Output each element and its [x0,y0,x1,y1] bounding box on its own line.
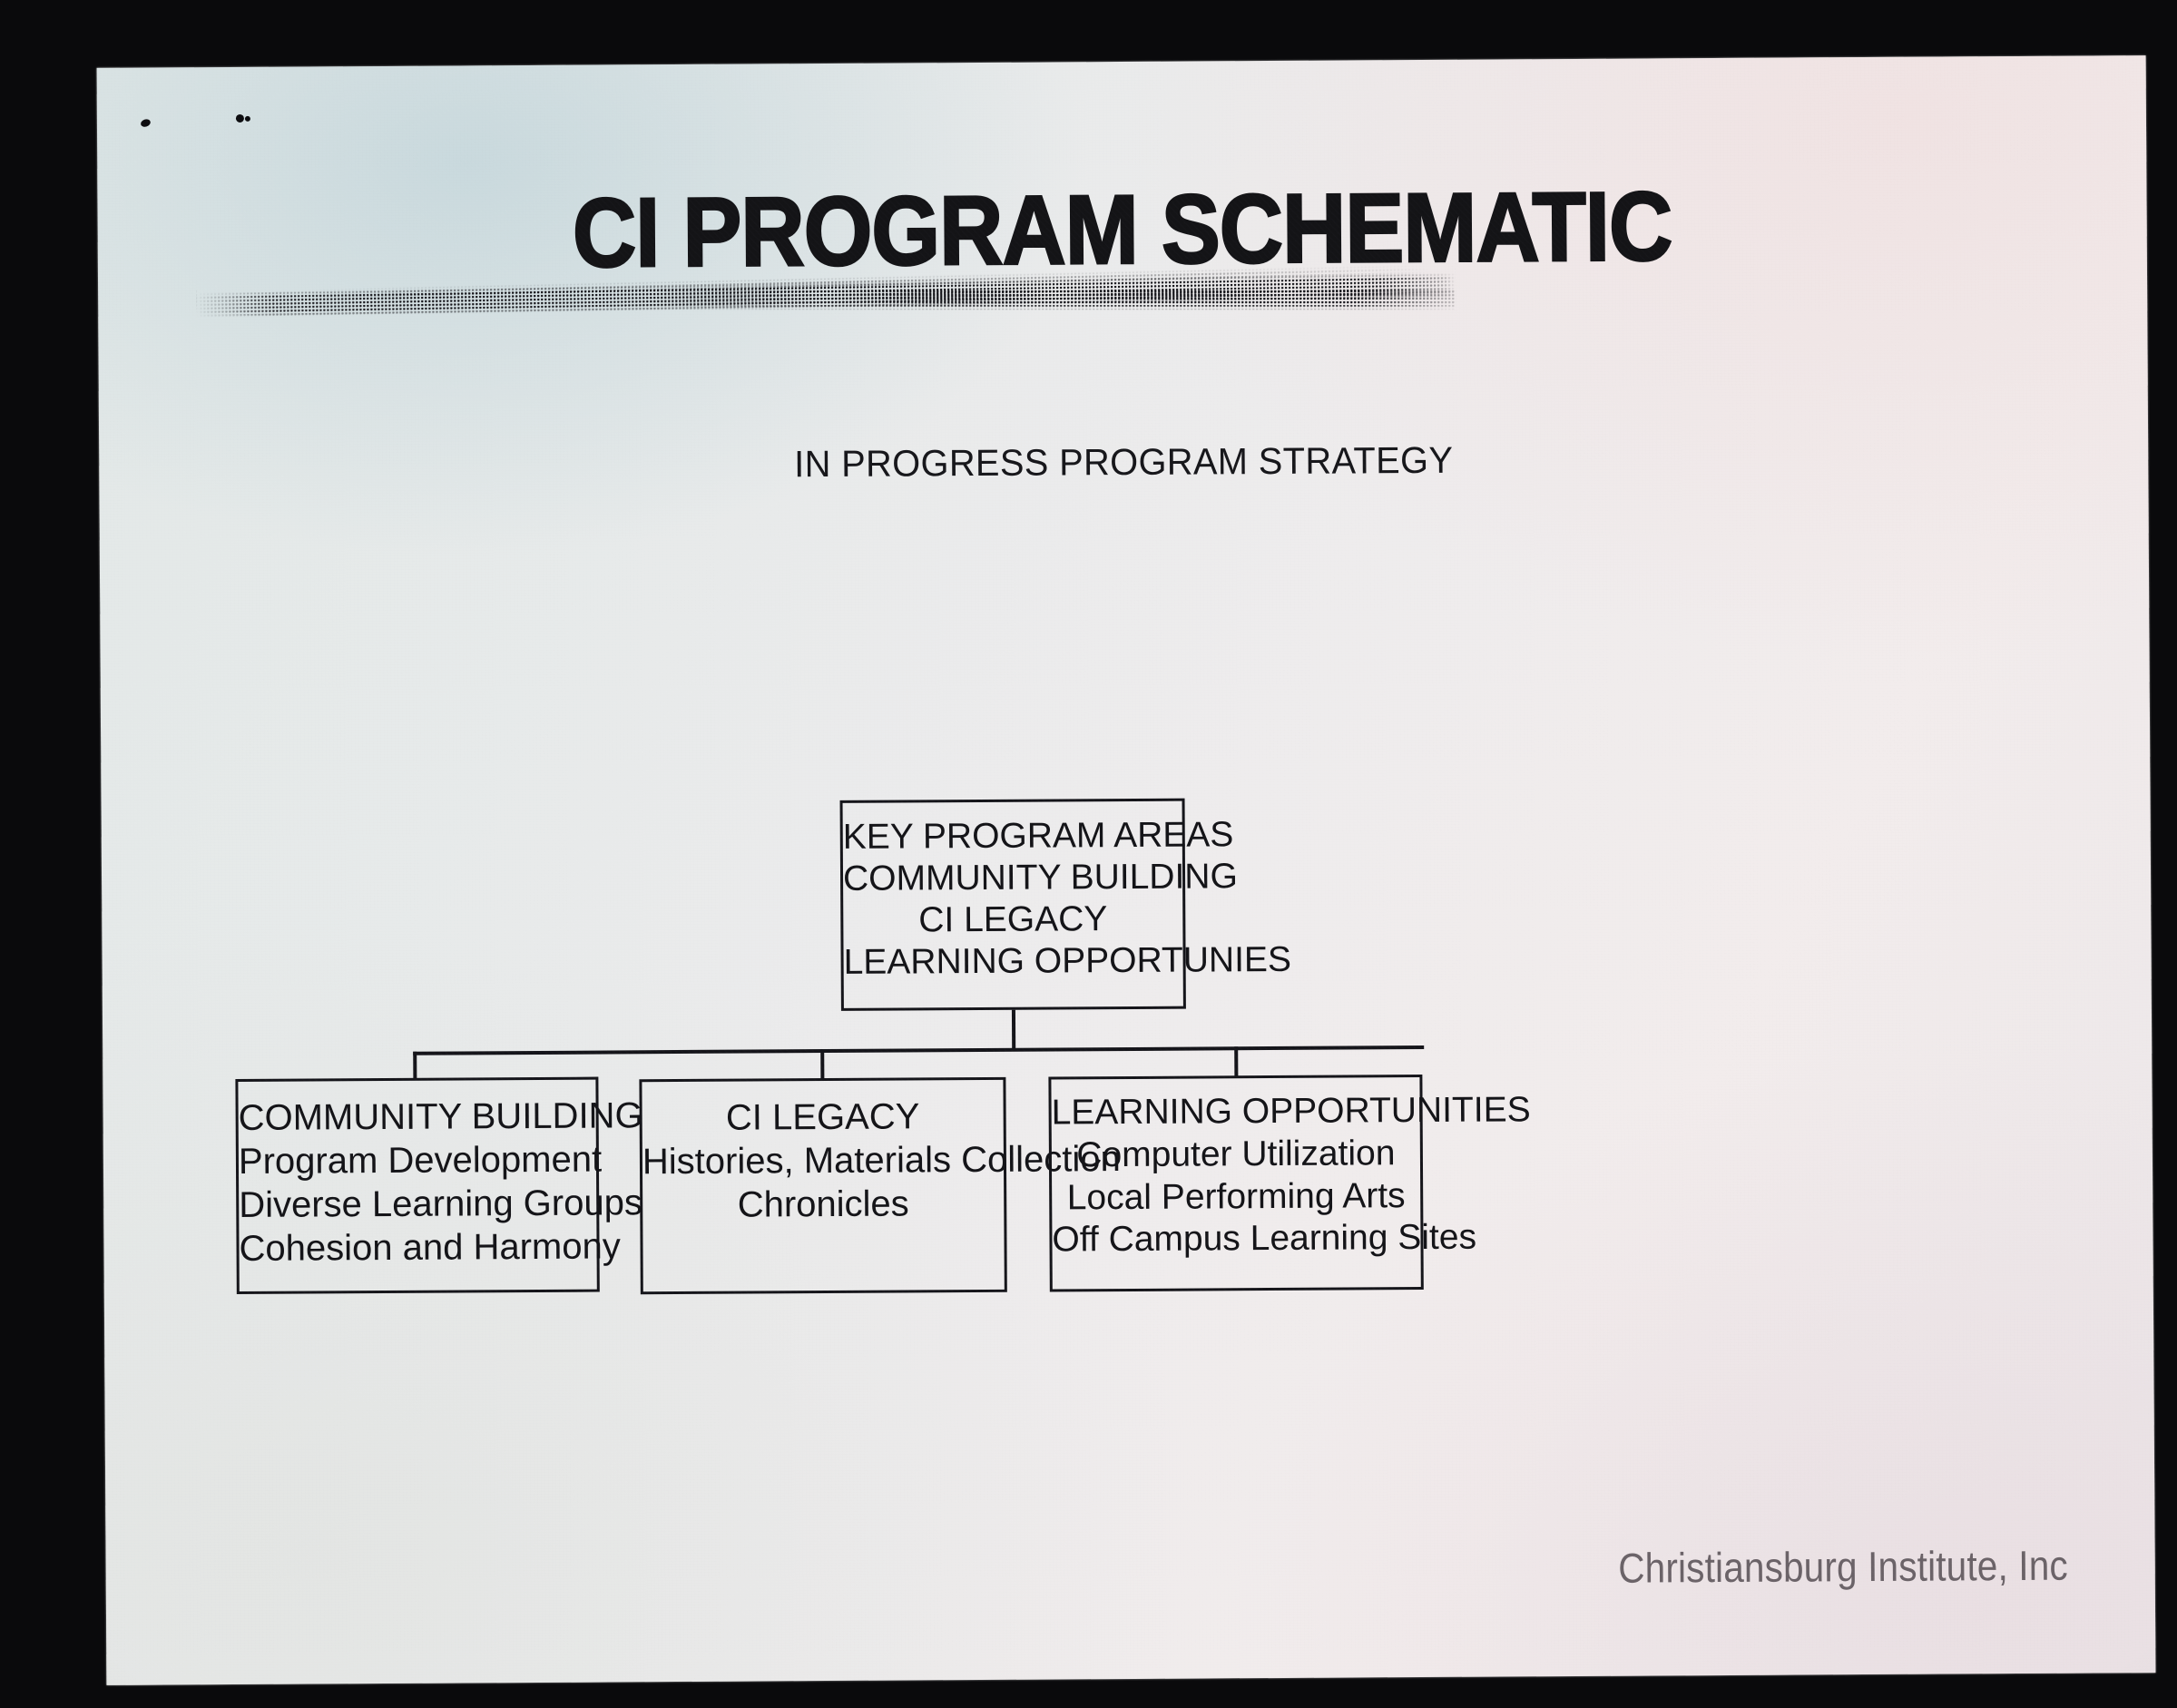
node-key-program-areas: KEY PROGRAM AREAS COMMUNITY BUILDING CI … [840,799,1186,1011]
connector-drop-ci-legacy [820,1049,824,1080]
node-lo-header: LEARNING OPPORTUNITIES [1051,1090,1419,1134]
node-root-line-1: KEY PROGRAM AREAS [843,815,1182,859]
node-cl-item-2: Chronicles [642,1182,1004,1227]
screenshot-canvas: CI PROGRAM SCHEMATIC IN PROGRESS PROGRAM… [0,0,2177,1708]
connector-root-dropline [1012,1010,1015,1051]
ink-speck-icon [236,114,244,123]
node-ci-legacy: CI LEGACY Histories, Materials Collectio… [639,1077,1006,1294]
node-cb-header: COMMUNITY BUILDING [239,1094,596,1140]
node-root-line-4: LEARNING OPPORTUNIES [843,940,1182,984]
node-lo-item-1: Computer Utilization [1052,1133,1420,1177]
connector-horizontal-bus [413,1045,1424,1055]
node-community-building: COMMUNITY BUILDING Program Development D… [235,1077,599,1294]
page-subtitle: IN PROGRESS PROGRAM STRATEGY [130,435,2118,489]
institution-credit-line: Christiansburg Institute, Inc [1618,1541,2068,1593]
node-cl-header: CI LEGACY [642,1094,1004,1140]
ink-speck-icon [140,118,152,128]
scanned-paper-sheet: CI PROGRAM SCHEMATIC IN PROGRESS PROGRAM… [97,55,2156,1685]
halftone-rule-decoration [196,270,1456,329]
node-cl-item-1: Histories, Materials Collection [642,1138,1004,1183]
node-root-line-3: CI LEGACY [843,898,1182,942]
node-lo-item-3: Off Campus Learning Sites [1052,1217,1420,1261]
node-cb-item-2: Diverse Learning Groups [239,1182,596,1227]
node-lo-item-2: Local Performing Arts [1052,1175,1420,1220]
ink-speck-icon [245,116,250,122]
node-cb-item-1: Program Development [239,1138,596,1183]
document-content: CI PROGRAM SCHEMATIC IN PROGRESS PROGRAM… [97,55,2156,1685]
node-learning-opportunities: LEARNING OPPORTUNITIES Computer Utilizat… [1048,1075,1423,1292]
connector-drop-community-building [413,1052,417,1080]
connector-drop-learning-opportunities [1234,1046,1238,1077]
node-root-line-2: COMMUNITY BUILDING [843,857,1182,900]
node-cb-item-3: Cohesion and Harmony [239,1225,596,1271]
